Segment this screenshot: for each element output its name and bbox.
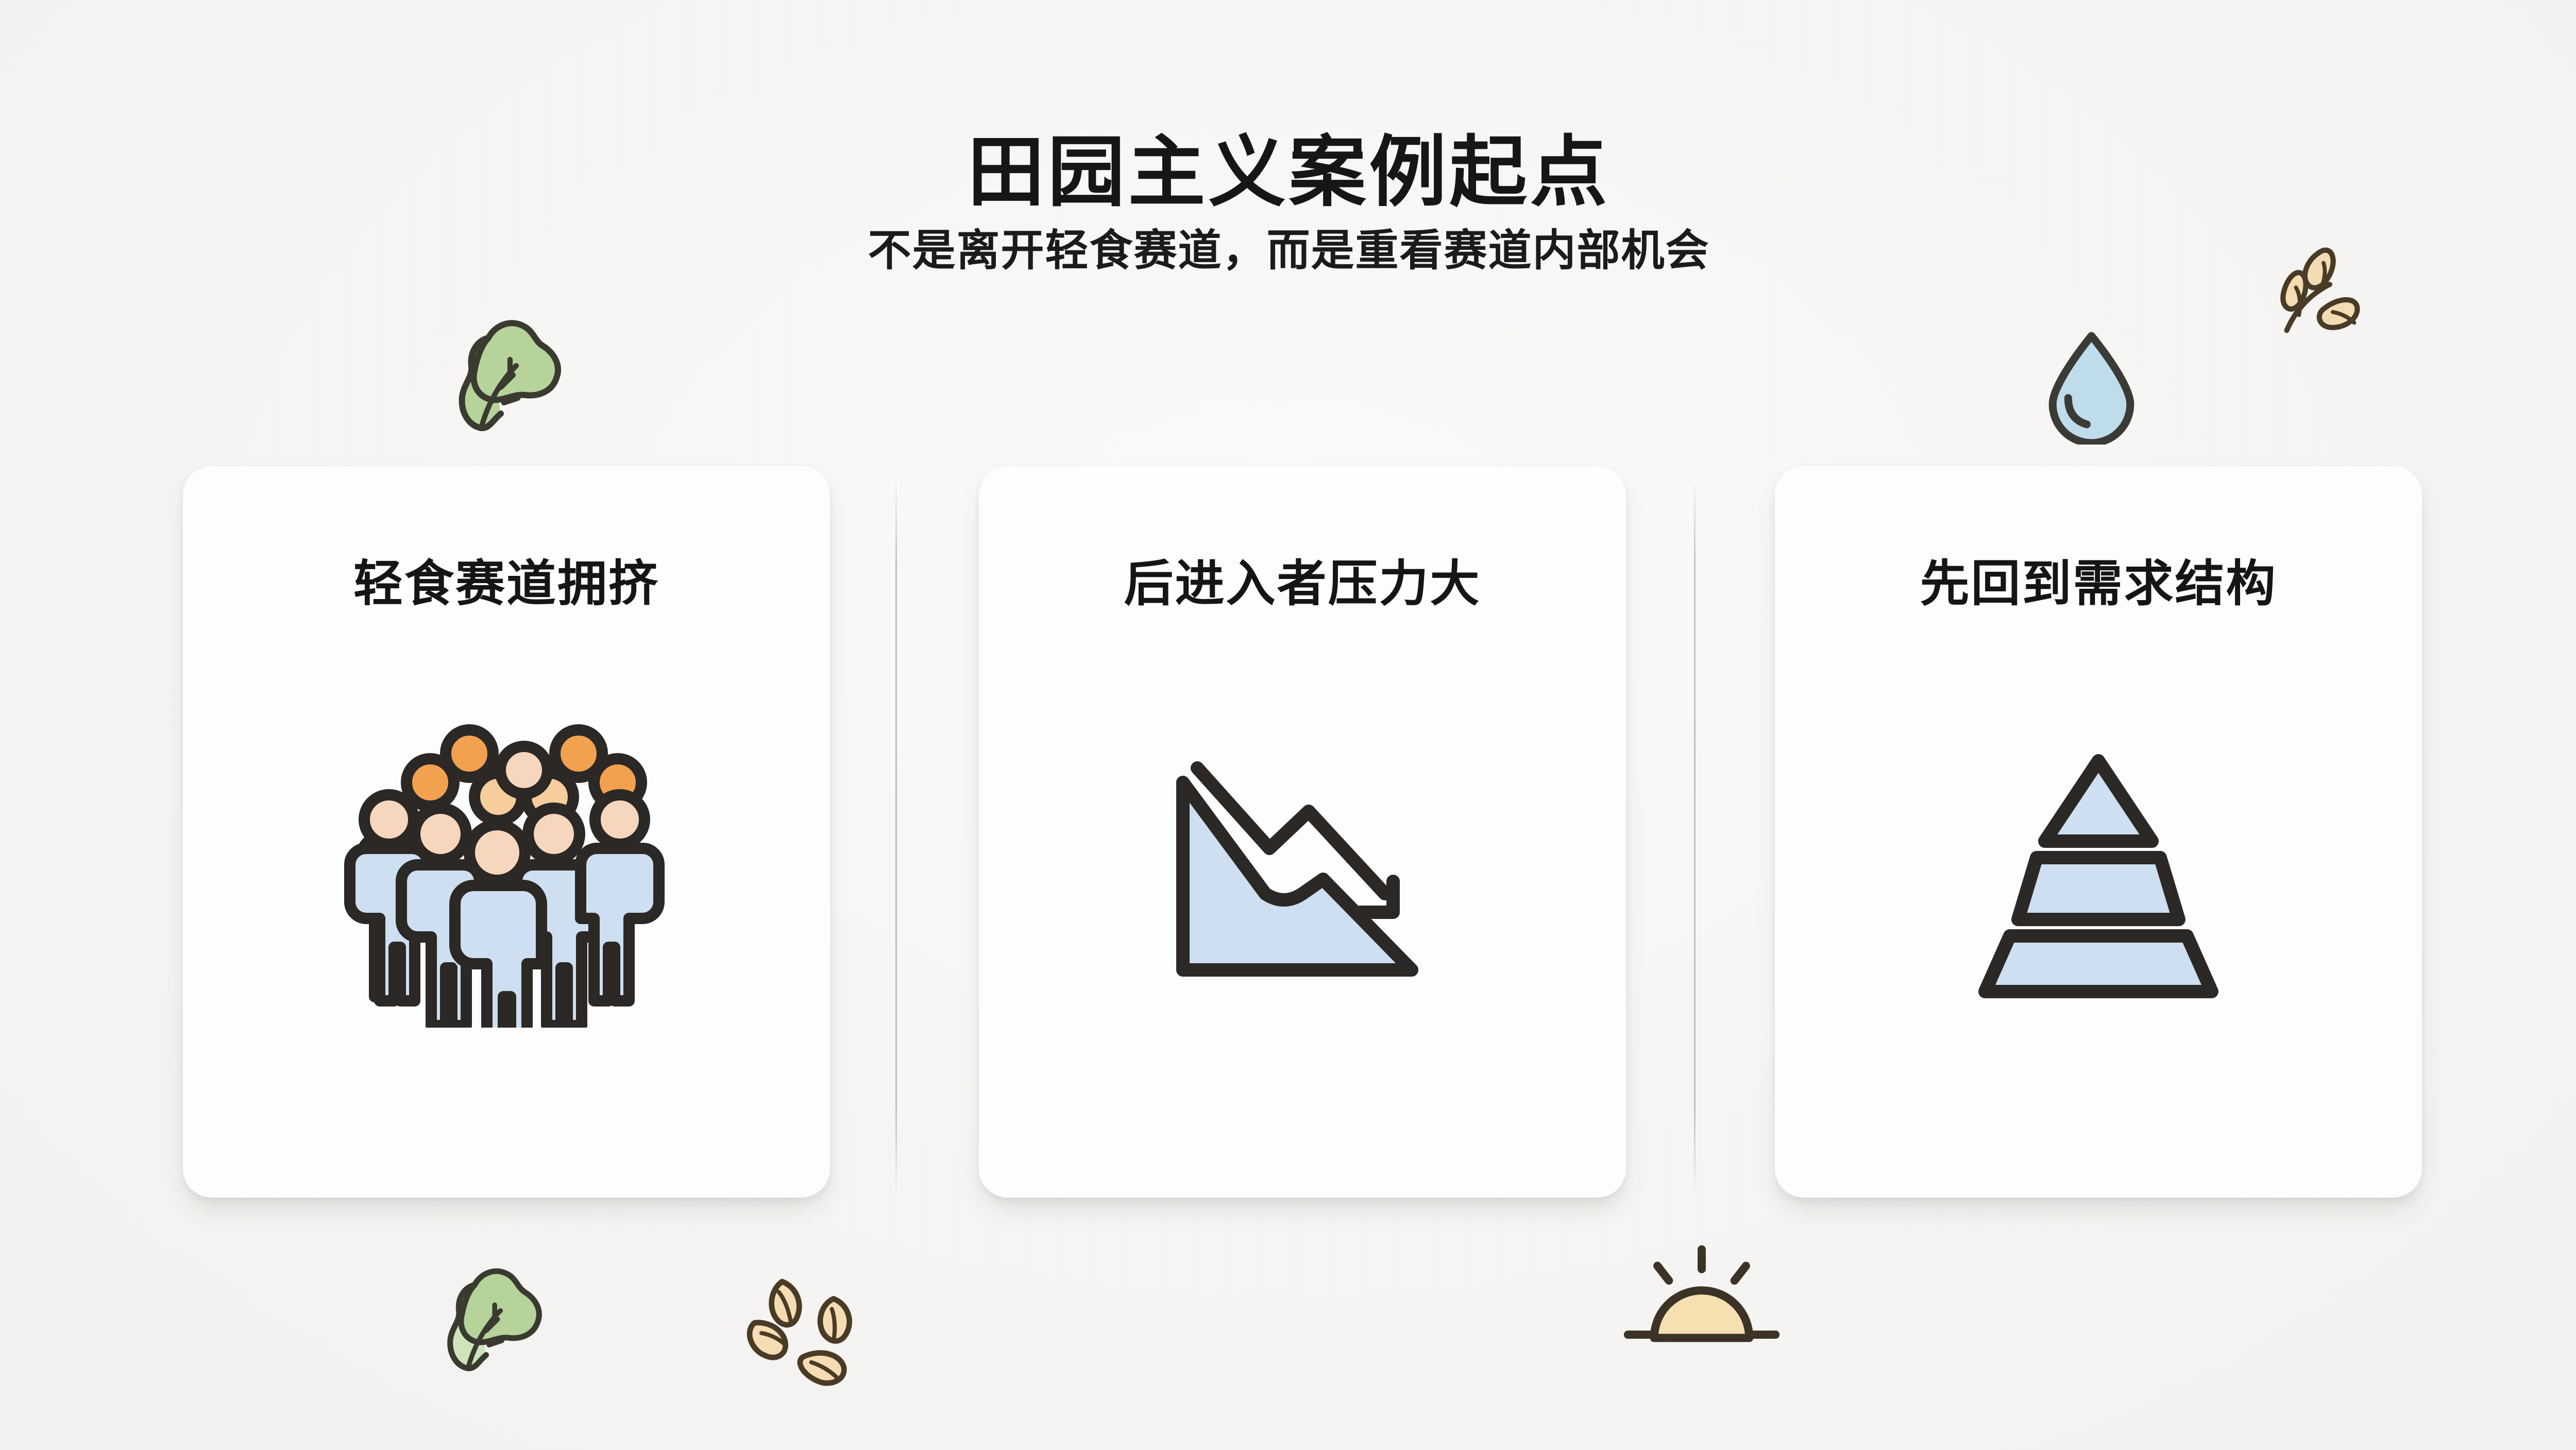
card-crowded-track[interactable]: 轻食赛道拥挤 [183,466,830,1198]
card-row: 轻食赛道拥挤 [0,0,2576,1450]
card-title: 后进入者压力大 [979,543,1626,615]
card-title: 轻食赛道拥挤 [183,543,830,615]
sunrise-icon [1612,1242,1792,1374]
three-tier-pyramid-icon [1775,703,2422,1043]
slide-canvas: 田园主义案例起点 不是离开轻食赛道，而是重看赛道内部机会 轻食赛道拥挤 [0,0,2576,1450]
leaf-icon [442,313,581,455]
crowd-of-people-icon [183,703,830,1043]
wheat-sprig-icon [2259,229,2388,361]
leaf-icon [432,1262,561,1393]
card-late-entrant-pressure[interactable]: 后进入者压力大 [979,466,1626,1198]
card-demand-structure[interactable]: 先回到需求结构 [1775,466,2422,1198]
card-title: 先回到需求结构 [1775,543,2422,615]
declining-area-chart-icon [979,703,1626,1043]
seeds-icon [741,1271,885,1403]
water-drop-icon [2036,323,2147,447]
